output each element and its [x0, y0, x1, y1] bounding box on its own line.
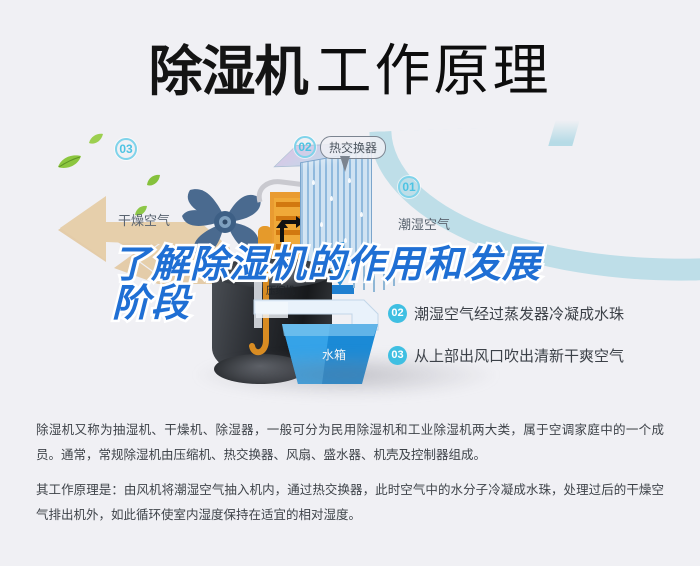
legend-item: 02 潮湿空气经过蒸发器冷凝成水珠	[388, 297, 624, 329]
water-droplet	[330, 196, 333, 201]
water-droplet	[312, 180, 315, 185]
legend-badge-03: 03	[388, 346, 407, 365]
paragraph-two: 其工作原理是：由风机将潮湿空气抽入机内，通过热交换器，此时空气中的水分子冷凝成水…	[36, 478, 664, 528]
leaf-icon	[146, 174, 161, 192]
water-droplet	[360, 212, 363, 217]
callout-badge-02: 02	[294, 136, 316, 158]
legend-item: 03 从上部出风口吹出清新干爽空气	[388, 339, 624, 371]
body-copy: 除湿机又称为抽湿机、干燥机、除湿器，一般可分为民用除湿机和工业除湿机两大类，属于…	[36, 418, 664, 528]
water-droplet	[348, 178, 351, 183]
legend-text-02: 潮湿空气经过蒸发器冷凝成水珠	[414, 303, 624, 324]
page-title-primary: 除湿机	[149, 42, 308, 102]
legend-list: 02 潮湿空气经过蒸发器冷凝成水珠 03 从上部出风口吹出清新干爽空气	[388, 297, 624, 381]
leaf-icon	[88, 132, 104, 150]
legend-text-03: 从上部出风口吹出清新干爽空气	[414, 345, 624, 366]
water-droplet	[320, 222, 323, 227]
leaf-icon	[56, 154, 82, 175]
callout-label-heat-exchanger: 热交换器	[320, 136, 386, 159]
callout-label-humid-air: 潮湿空气	[398, 214, 450, 233]
legend-badge-02: 02	[388, 304, 407, 323]
callout-bubble-tail	[340, 156, 350, 172]
overlay-headline-line-1: 了解除湿机的作用和发展	[112, 246, 632, 285]
callout-badge-03: 03	[115, 138, 137, 160]
page-title-secondary: 工作原理	[316, 39, 552, 102]
page-title: 除湿机工作原理	[0, 26, 700, 107]
callout-label-dry-air: 干燥空气	[118, 210, 170, 229]
paragraph-one: 除湿机又称为抽湿机、干燥机、除湿器，一般可分为民用除湿机和工业除湿机两大类，属于…	[36, 418, 664, 468]
infographic-page: 除湿机工作原理	[0, 0, 700, 566]
callout-badge-01: 01	[398, 176, 420, 198]
